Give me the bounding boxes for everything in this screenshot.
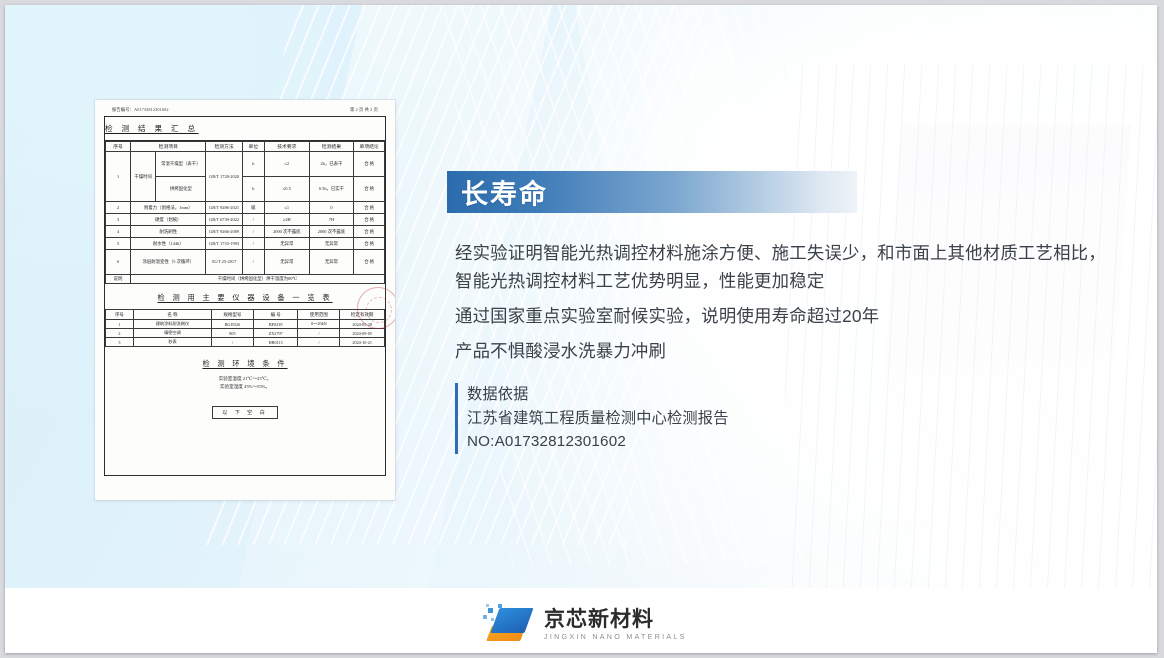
cell-no: 3 — [106, 338, 134, 347]
results-header-row: 序号 检测项目 检测方法 单位 技术要求 检测结果 单项结论 — [106, 142, 385, 152]
slide-frame: 报告编号：A01732812301602 第 2 页 共 2 页 检 测 结 果… — [5, 5, 1157, 653]
cell-item: 耐水性（144h） — [131, 238, 206, 250]
cell-no: 2 — [106, 329, 134, 338]
cell-range: / — [298, 329, 340, 338]
cell-model: 805 — [212, 329, 254, 338]
cell-no: 4 — [106, 226, 131, 238]
cell-result: 0.5h，已实干 — [309, 177, 354, 202]
cell-requirement: 无异常 — [265, 250, 310, 275]
citation-number: NO:A01732812301602 — [467, 430, 729, 454]
table-row: 5 耐水性（144h） GB/T 1733-1993 / 无异常 无异常 合 格 — [106, 238, 385, 250]
cell-method: GB/T 1733-1993 — [206, 238, 242, 250]
results-title: 检 测 结 果 汇 总 — [105, 117, 385, 140]
cell-no: 2 — [106, 202, 131, 214]
report-page: 报告编号：A01732812301602 第 2 页 共 2 页 检 测 结 果… — [95, 100, 395, 500]
cell-item: 耐洗刷性 — [131, 226, 206, 238]
cell-no: 6 — [106, 250, 131, 275]
equipment-title: 检 测 用 主 要 仪 器 设 备 一 览 表 — [105, 284, 385, 309]
cell-code: ZX2797 — [253, 329, 298, 338]
cell-model: BGI5526 — [212, 320, 254, 329]
results-col-no: 序号 — [106, 142, 131, 152]
cell-model: / — [212, 338, 254, 347]
table-row: 3 秒表 / HB0115 / 2024-10-21 — [106, 338, 385, 347]
body-paragraph-3: 产品不惧酸浸水洗暴力冲刷 — [455, 337, 1115, 365]
report-header: 报告编号：A01732812301602 第 2 页 共 2 页 — [104, 107, 386, 116]
results-title-wrap: 检 测 结 果 汇 总 — [105, 117, 385, 141]
cell-no: 1 — [106, 320, 134, 329]
equipment-table: 序号 名 称 规格型号 编 号 使用范围 检定有效期 1 建筑涂料耐洗刷仪 BG… — [105, 309, 385, 347]
cell-unit: 级 — [242, 202, 264, 214]
cell-no: 3 — [106, 214, 131, 226]
cell-requirement: ≤1 — [265, 202, 310, 214]
results-col-unit: 单位 — [242, 142, 264, 152]
cell-valid: 2024-09-05 — [340, 329, 385, 338]
cell-result: 2000 次不露底 — [309, 226, 354, 238]
environment-temperature: 实验室温度 21℃～25℃。 — [105, 375, 385, 383]
cell-conclusion: 合 格 — [354, 202, 385, 214]
cell-code: BF0239 — [253, 320, 298, 329]
cell-item: 硬度（划痕） — [131, 214, 206, 226]
table-row: 2 精密空调 805 ZX2797 / 2024-09-05 — [106, 329, 385, 338]
cell-name: 精密空调 — [133, 329, 211, 338]
logo-pixel-icon — [483, 615, 487, 619]
body-paragraph-1: 经实验证明智能光热调控材料施涂方便、施工失误少，和市面上其他材质工艺相比，智能光… — [455, 239, 1115, 295]
equipment-col-valid: 检定有效期 — [340, 310, 385, 320]
cell-result: 无异常 — [309, 238, 354, 250]
cell-method: GB/T 9266-2009 — [206, 226, 242, 238]
logo-pixel-icon — [498, 604, 502, 608]
cell-item: 附着力（划格法，1mm） — [131, 202, 206, 214]
brand-logo: 京芯新材料 JINGXIN NANO MATERIALS — [483, 603, 687, 647]
cell-method: GB/T 6739-2022 — [206, 214, 242, 226]
cell-result: 无异常 — [309, 250, 354, 275]
logo-name-cn: 京芯新材料 — [544, 609, 687, 631]
results-col-conclusion: 单项结论 — [354, 142, 385, 152]
cell-conclusion: 合 格 — [354, 238, 385, 250]
equipment-header-row: 序号 名 称 规格型号 编 号 使用范围 检定有效期 — [106, 310, 385, 320]
cell-name: 秒表 — [133, 338, 211, 347]
cell-result: 7H — [309, 214, 354, 226]
table-row: 6 涂层耐温变性（5 次循环） JG/T 25-2017 / 无异常 无异常 合… — [106, 250, 385, 275]
cell-method: GB/T 1728-2020 — [206, 152, 242, 202]
cell-requirement: ≤0.5 — [265, 177, 310, 202]
logo-mark-icon — [483, 604, 535, 646]
cell-no: 5 — [106, 238, 131, 250]
cell-method: GB/T 9286-2021 — [206, 202, 242, 214]
table-row: 2 附着力（划格法，1mm） GB/T 9286-2021 级 ≤1 0 合 格 — [106, 202, 385, 214]
cell-range: / — [298, 338, 340, 347]
cell-item: 涂层耐温变性（5 次循环） — [131, 250, 206, 275]
report-number-label: 报告编号：A01732812301602 — [112, 107, 169, 113]
equipment-col-range: 使用范围 — [298, 310, 340, 320]
cell-item-sub: 烘烤固化型 — [156, 177, 206, 202]
cell-unit: h — [242, 152, 264, 177]
table-row: 3 硬度（划痕） GB/T 6739-2022 / ≥4H 7H 合 格 — [106, 214, 385, 226]
report-body-border: 检 测 结 果 汇 总 序号 检测项目 检测方法 单位 技术要求 检测结果 单项… — [104, 116, 386, 476]
cell-requirement: ≤2 — [265, 152, 310, 177]
results-note-label: 说明 — [106, 275, 131, 284]
logo-blue-shape — [490, 608, 533, 633]
cell-result: 0 — [309, 202, 354, 214]
cell-valid: 2024-05-28 — [340, 320, 385, 329]
environment-humidity: 实验室湿度 45%～55%。 — [105, 383, 385, 391]
results-col-item: 检测项目 — [131, 142, 206, 152]
cell-item-main: 干燥时间 — [131, 152, 156, 202]
cell-unit: / — [242, 226, 264, 238]
equipment-col-name: 名 称 — [133, 310, 211, 320]
table-row: 1 建筑涂料耐洗刷仪 BGI5526 BF0239 0～20kN 2024-05… — [106, 320, 385, 329]
logo-pixel-icon — [491, 618, 494, 621]
section-title-band: 长寿命 — [447, 171, 857, 213]
citation-block: 数据依据 江苏省建筑工程质量检测中心检测报告 NO:A0173281230160… — [455, 383, 729, 454]
slide-canvas: 报告编号：A01732812301602 第 2 页 共 2 页 检 测 结 果… — [5, 5, 1157, 588]
cell-unit: / — [242, 238, 264, 250]
cell-item-sub: 常温干燥型（表干） — [156, 152, 206, 177]
citation-source: 江苏省建筑工程质量检测中心检测报告 — [467, 407, 729, 431]
cell-result: 2h，已表干 — [309, 152, 354, 177]
test-report-image[interactable]: 报告编号：A01732812301602 第 2 页 共 2 页 检 测 结 果… — [95, 100, 395, 500]
logo-name-en: JINGXIN NANO MATERIALS — [544, 633, 687, 641]
cell-conclusion: 合 格 — [354, 214, 385, 226]
page-title: 长寿命 — [461, 173, 548, 212]
cell-unit: h — [242, 177, 264, 202]
cell-valid: 2024-10-21 — [340, 338, 385, 347]
report-page-label: 第 2 页 共 2 页 — [350, 107, 378, 113]
body-paragraph-2: 通过国家重点实验室耐候实验，说明使用寿命超过20年 — [455, 302, 1115, 330]
cell-requirement: ≥4H — [265, 214, 310, 226]
cell-no: 1 — [106, 152, 131, 202]
cell-unit: / — [242, 214, 264, 226]
results-note-text: 干燥时间（烘烤固化型）烘干温度为80℃ — [131, 275, 385, 284]
cell-code: HB0115 — [253, 338, 298, 347]
environment-title: 检 测 环 境 条 件 — [105, 347, 385, 375]
results-col-result: 检测结果 — [309, 142, 354, 152]
cell-requirement: 无异常 — [265, 238, 310, 250]
blank-note: 以 下 空 白 — [212, 406, 278, 419]
logo-text: 京芯新材料 JINGXIN NANO MATERIALS — [544, 609, 687, 641]
equipment-col-no: 序号 — [106, 310, 134, 320]
logo-pixel-icon — [488, 608, 493, 613]
table-row: 4 耐洗刷性 GB/T 9266-2009 / 2000 次不露底 2000 次… — [106, 226, 385, 238]
cell-requirement: 2000 次不露底 — [265, 226, 310, 238]
cell-conclusion: 合 格 — [354, 152, 385, 177]
cell-conclusion: 合 格 — [354, 177, 385, 202]
results-table: 序号 检测项目 检测方法 单位 技术要求 检测结果 单项结论 1 干燥时间 常温… — [105, 141, 385, 284]
environment-block: 检 测 环 境 条 件 实验室温度 21℃～25℃。 实验室湿度 45%～55%… — [105, 347, 385, 419]
cell-name: 建筑涂料耐洗刷仪 — [133, 320, 211, 329]
citation-label: 数据依据 — [467, 383, 729, 407]
logo-pixel-icon — [486, 604, 489, 607]
results-note-row: 说明 干燥时间（烘烤固化型）烘干温度为80℃ — [106, 275, 385, 284]
table-row: 1 干燥时间 常温干燥型（表干） GB/T 1728-2020 h ≤2 2h，… — [106, 152, 385, 177]
equipment-col-code: 编 号 — [253, 310, 298, 320]
equipment-col-model: 规格型号 — [212, 310, 254, 320]
cell-method: JG/T 25-2017 — [206, 250, 242, 275]
cell-range: 0～20kN — [298, 320, 340, 329]
background-building-mid — [554, 5, 831, 588]
cell-conclusion: 合 格 — [354, 250, 385, 275]
cell-unit: / — [242, 250, 264, 275]
cell-conclusion: 合 格 — [354, 226, 385, 238]
results-col-requirement: 技术要求 — [265, 142, 310, 152]
results-col-method: 检测方法 — [206, 142, 242, 152]
